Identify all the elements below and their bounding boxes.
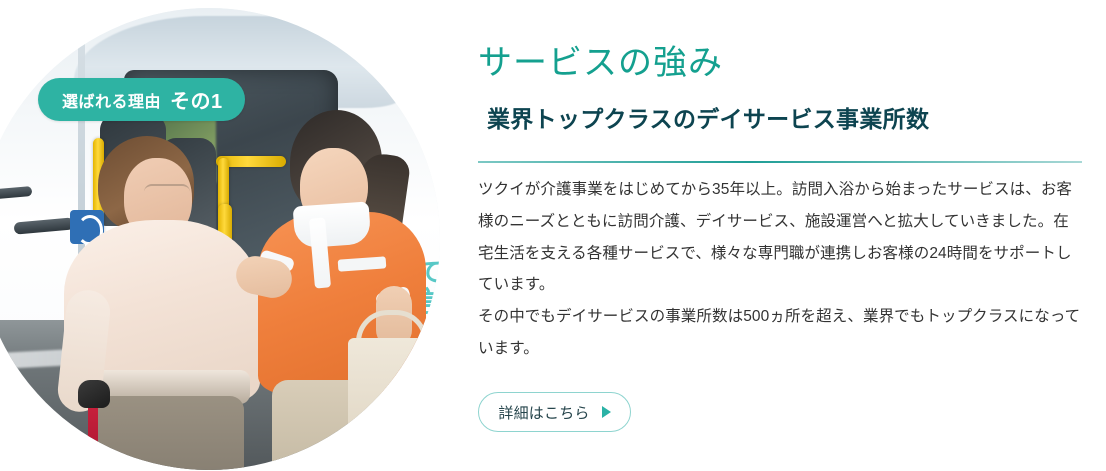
triangle-right-icon bbox=[602, 406, 611, 418]
divider bbox=[478, 161, 1082, 163]
page-subtitle: 業界トップクラスのデイサービス事業所数 bbox=[487, 108, 929, 131]
service-strength-section: イて 能訓 選ばれる理由 bbox=[0, 0, 1106, 471]
details-button[interactable]: 詳細はこちら bbox=[478, 392, 631, 432]
elderly-woman-pants bbox=[94, 396, 244, 470]
tote-bag bbox=[348, 338, 432, 468]
walking-cane bbox=[88, 404, 98, 470]
body-text: ツクイが介護事業をはじめてから35年以上。訪問入浴から始まったサービスは、お客様… bbox=[478, 174, 1082, 365]
reason-badge: 選ばれる理由 その1 bbox=[38, 78, 245, 121]
content-column: サービスの強み 業界トップクラスのデイサービス事業所数 ツクイが介護事業をはじめ… bbox=[476, 0, 1082, 471]
cane-grip bbox=[78, 380, 110, 408]
body-paragraph-1: ツクイが介護事業をはじめてから35年以上。訪問入浴から始まったサービスは、お客様… bbox=[478, 174, 1082, 301]
caregiver-collar bbox=[293, 201, 372, 248]
badge-number-label: その1 bbox=[170, 85, 223, 114]
eyeglasses-icon bbox=[144, 184, 190, 201]
body-paragraph-2: その中でもデイサービスの事業所数は500ヵ所を超え、業界でもトップクラスになって… bbox=[478, 301, 1082, 365]
badge-reason-label: 選ばれる理由 bbox=[62, 88, 161, 112]
page-title: サービスの強み bbox=[478, 46, 723, 80]
details-button-label: 詳細はこちら bbox=[498, 402, 589, 423]
